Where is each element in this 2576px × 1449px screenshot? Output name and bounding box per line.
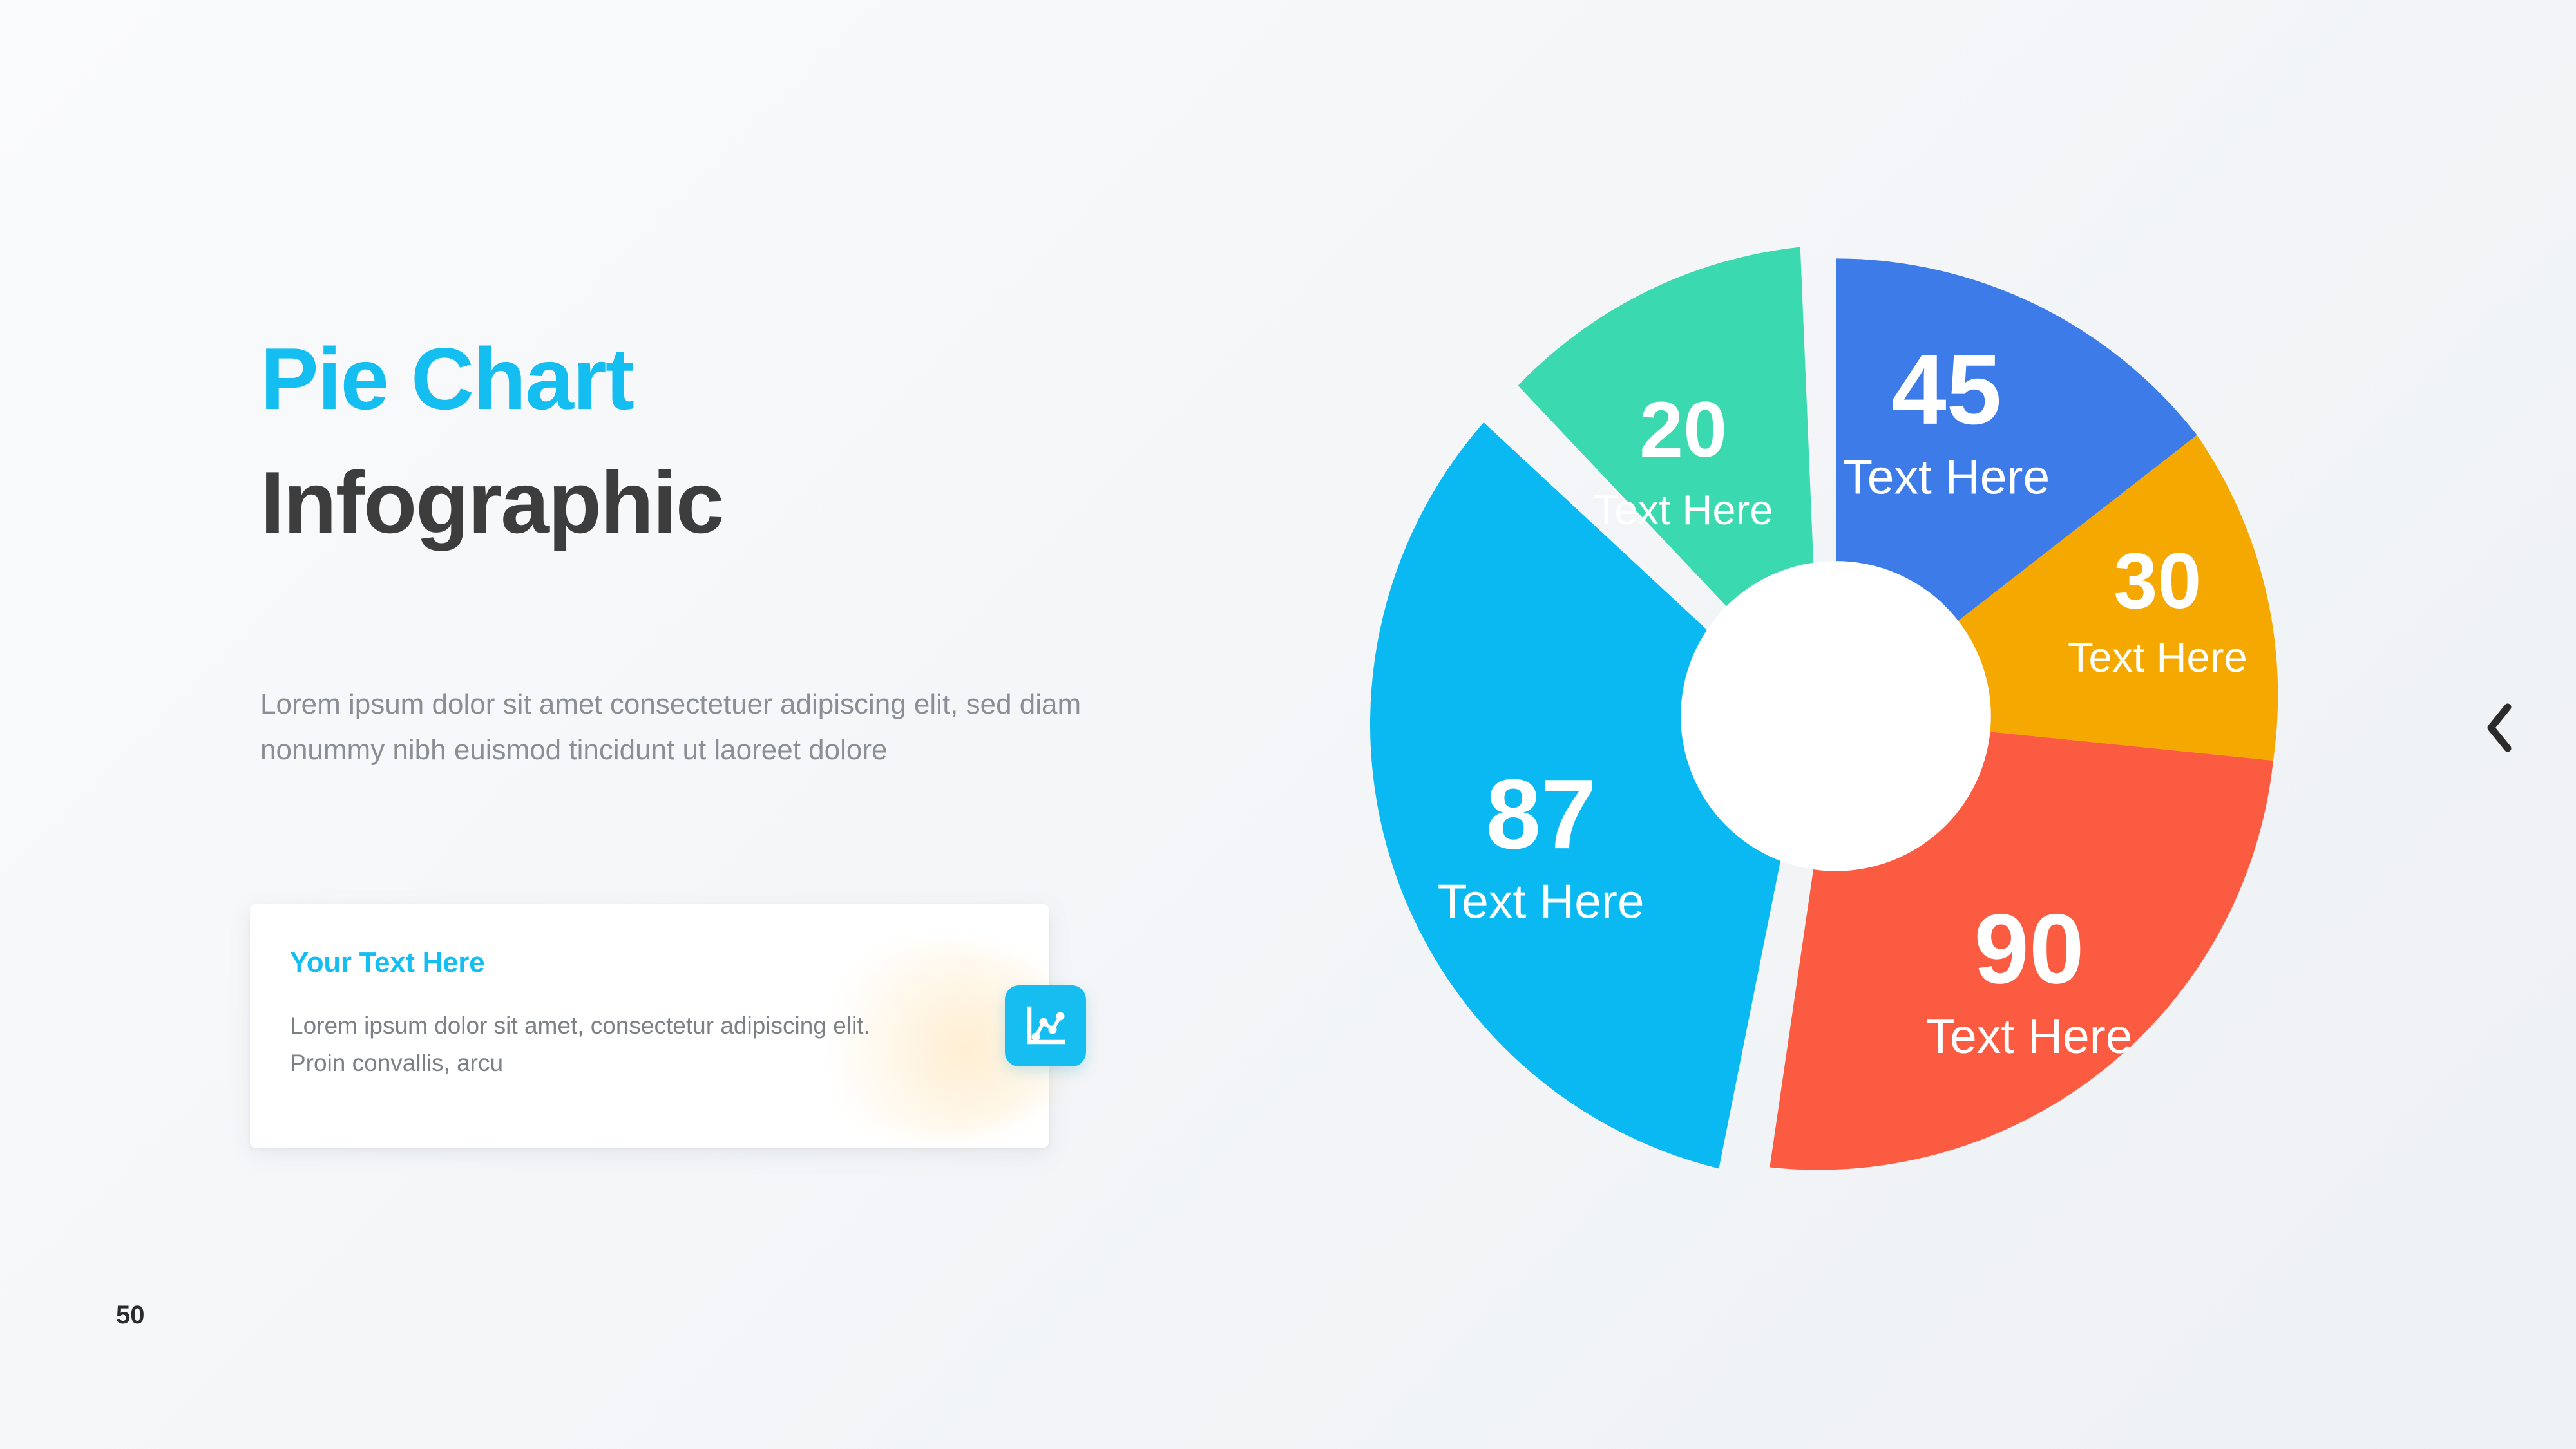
card-content: Your Text Here Lorem ipsum dolor sit ame… xyxy=(250,904,1049,1083)
pie-slice-90-label: Text Here xyxy=(1926,1009,2133,1063)
info-card[interactable]: Your Text Here Lorem ipsum dolor sit ame… xyxy=(250,904,1049,1148)
chevron-left-icon[interactable] xyxy=(2470,699,2528,757)
pie-slice-87-label: Text Here xyxy=(1438,875,1645,929)
intro-paragraph: Lorem ipsum dolor sit amet consectetuer … xyxy=(260,681,1207,773)
pie-chart: 45 Text Here 30 Text Here 90 Text Here 8… xyxy=(1321,227,2351,1193)
slide-canvas: Pie Chart Infographic Lorem ipsum dolor … xyxy=(0,0,2576,1449)
donut-center-hole xyxy=(1681,561,1991,871)
pie-slice-45-label: Text Here xyxy=(1843,450,2050,504)
pie-slice-87-value: 87 xyxy=(1485,759,1596,869)
pie-slice-30-value: 30 xyxy=(2113,536,2201,625)
pie-slice-30-label: Text Here xyxy=(2068,634,2247,681)
page-number: 50 xyxy=(116,1301,145,1330)
left-content-column: Pie Chart Infographic Lorem ipsum dolor … xyxy=(260,335,1226,773)
card-title: Your Text Here xyxy=(290,947,1049,979)
pie-slice-45-value: 45 xyxy=(1891,334,2001,445)
page-title-secondary: Infographic xyxy=(260,459,1226,546)
pie-slice-20-value: 20 xyxy=(1639,385,1727,473)
pie-slice-90-value: 90 xyxy=(1974,893,2084,1004)
page-title-primary: Pie Chart xyxy=(260,335,1226,422)
pie-slice-20-label: Text Here xyxy=(1594,486,1773,533)
line-chart-icon[interactable] xyxy=(1005,985,1086,1066)
card-body-text: Lorem ipsum dolor sit amet, consectetur … xyxy=(290,1007,895,1083)
